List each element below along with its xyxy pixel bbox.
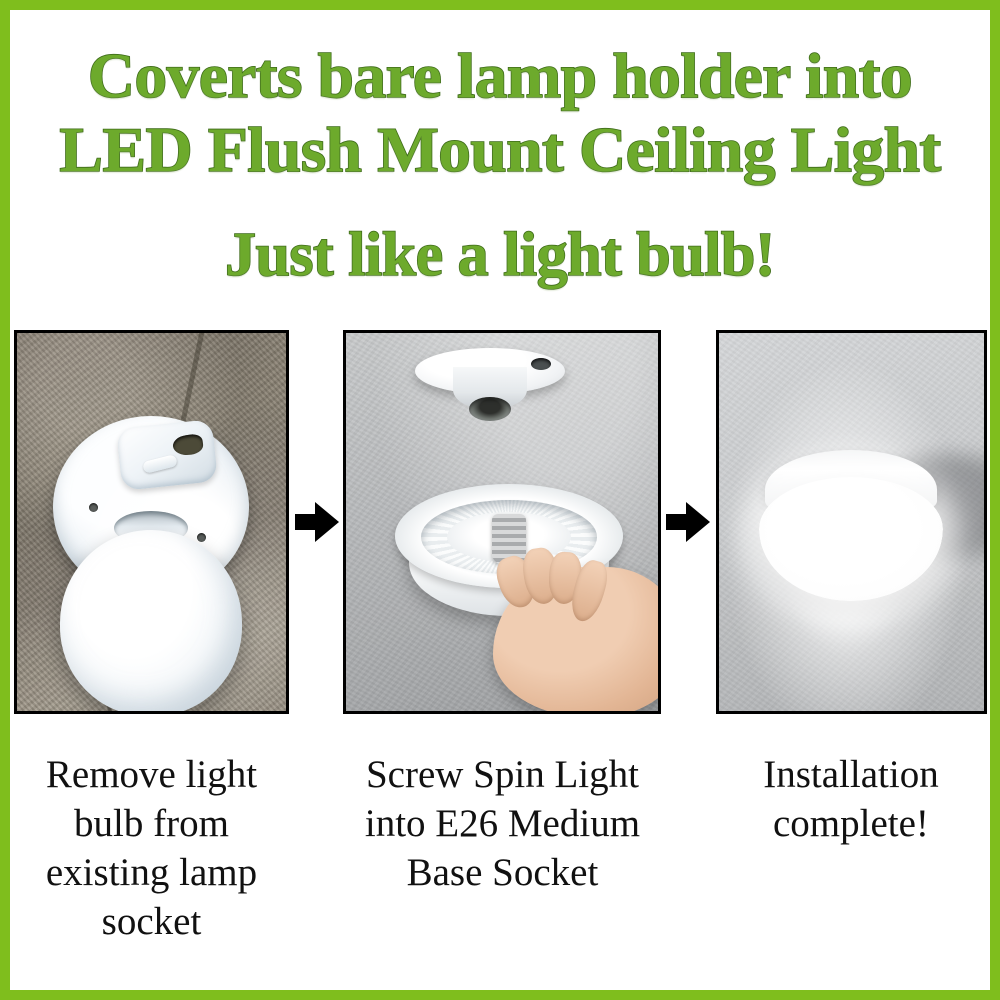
right-arrow-icon <box>666 502 710 542</box>
headline-line-3: Just like a light bulb! <box>10 224 990 286</box>
arrow-cell-2 <box>662 330 714 714</box>
step-1-caption: Remove light bulb from existing lamp soc… <box>12 750 291 946</box>
captions-row: Remove light bulb from existing lamp soc… <box>10 750 990 946</box>
headline-block: Coverts bare lamp holder into LED Flush … <box>10 26 990 286</box>
arrow-head <box>315 502 339 542</box>
headline-line-2: LED Flush Mount Ceiling Light <box>0 118 1000 182</box>
canopy-wire-hole-icon <box>531 358 551 370</box>
step-2-caption: Screw Spin Light into E26 Medium Base So… <box>342 750 662 897</box>
step-1 <box>12 330 291 714</box>
step-1-photo <box>14 330 289 714</box>
step-3-photo <box>716 330 987 714</box>
arrow-head <box>686 502 710 542</box>
globe-light-bulb <box>60 530 242 714</box>
infographic-canvas: Coverts bare lamp holder into LED Flush … <box>0 0 1000 1000</box>
step-2 <box>343 330 663 714</box>
right-arrow-icon <box>295 502 339 542</box>
step-2-photo <box>343 330 661 714</box>
lamp-holder-boss <box>116 419 218 491</box>
step-3-caption: Installation complete! <box>714 750 988 848</box>
headline-line-1: Coverts bare lamp holder into <box>0 44 1000 108</box>
steps-row <box>10 330 990 714</box>
arrow-cell-1 <box>291 330 343 714</box>
step-3 <box>714 330 988 714</box>
